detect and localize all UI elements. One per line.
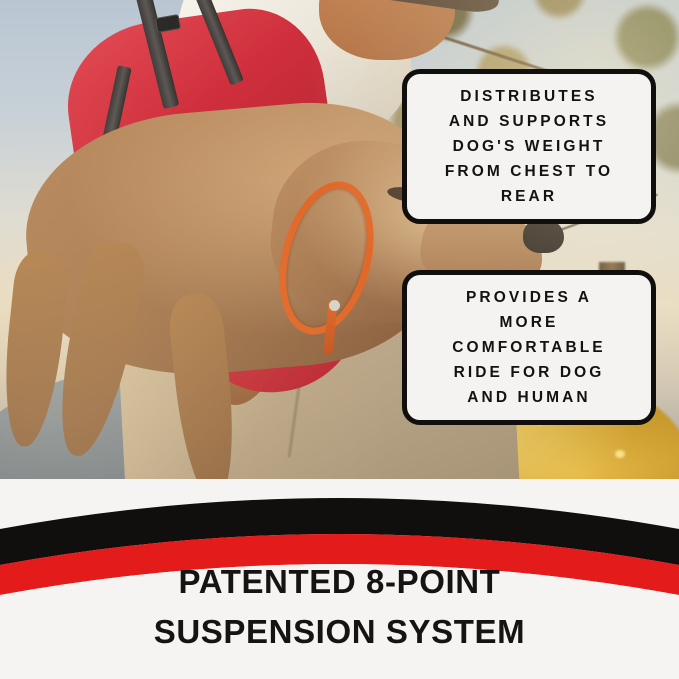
banner-headline: Patented 8-Point Suspension System — [0, 557, 679, 657]
callout-text: Provides a more comfortable ride for dog… — [452, 285, 606, 411]
callout-box-distributes-weight: Distributes and supports dog's weight fr… — [402, 69, 656, 224]
callout-text: Distributes and supports dog's weight fr… — [445, 84, 613, 210]
callout-box-comfortable-ride: Provides a more comfortable ride for dog… — [402, 270, 656, 425]
grass-highlight — [615, 450, 625, 458]
bottom-banner: Patented 8-Point Suspension System — [0, 479, 679, 679]
dog-tag — [329, 300, 340, 311]
product-infographic: Distributes and supports dog's weight fr… — [0, 0, 679, 679]
